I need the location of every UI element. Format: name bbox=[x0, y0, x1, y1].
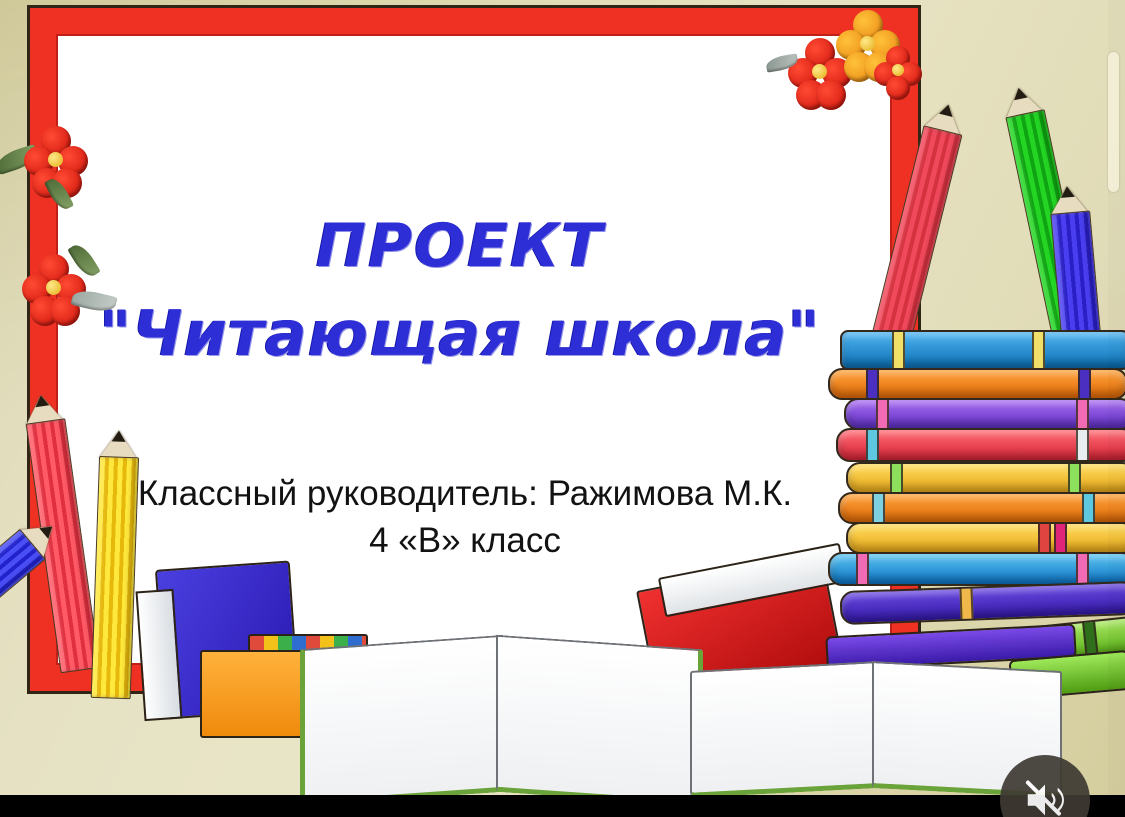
open-book-right-page bbox=[496, 635, 703, 795]
book-stack-item bbox=[844, 398, 1125, 430]
book-band bbox=[866, 370, 879, 398]
flower-center bbox=[812, 64, 827, 79]
scrollbar-thumb[interactable] bbox=[1108, 52, 1119, 192]
book-stack-item bbox=[840, 330, 1125, 370]
flower-left-upper bbox=[26, 130, 86, 190]
slide-credits-block: Классный руководитель: Ражимова М.К. 4 «… bbox=[70, 468, 860, 571]
video-player-stage: ПРОЕКТ "Читающая школа" Классный руковод… bbox=[0, 0, 1125, 817]
flower-left-lower bbox=[24, 258, 84, 318]
speaker-muted-icon bbox=[1022, 777, 1068, 817]
book-band bbox=[1076, 430, 1089, 460]
page-subtitle: "Читающая школа" bbox=[60, 300, 860, 368]
open-book-right bbox=[690, 660, 1060, 795]
book-band bbox=[1078, 370, 1091, 398]
pencil-graphite-tip bbox=[1060, 186, 1075, 198]
flower-center bbox=[48, 152, 63, 167]
flower-center bbox=[860, 36, 875, 51]
credit-teacher: Классный руководитель: Ражимова М.К. bbox=[70, 470, 860, 517]
book-band bbox=[1068, 464, 1081, 492]
book-band bbox=[872, 494, 885, 522]
book-band bbox=[1054, 524, 1067, 552]
open-book-left-page bbox=[300, 635, 503, 795]
book-band bbox=[1038, 524, 1051, 552]
book-band bbox=[1076, 400, 1089, 428]
flower-center bbox=[892, 64, 904, 76]
book-stack-item bbox=[846, 522, 1125, 554]
book-band bbox=[876, 400, 889, 428]
book-stack-item bbox=[828, 552, 1125, 586]
book-band bbox=[892, 332, 905, 368]
flower-center bbox=[46, 280, 61, 295]
credit-class: 4 «В» класс bbox=[70, 517, 860, 564]
book-stack-item bbox=[828, 368, 1125, 400]
book-band bbox=[856, 554, 869, 584]
book-band bbox=[1082, 494, 1095, 522]
open-book-center bbox=[300, 632, 700, 795]
pencil-barrel bbox=[91, 456, 139, 699]
book-band bbox=[1032, 332, 1045, 368]
flower-top-right-small-red bbox=[876, 48, 922, 94]
flower-petal bbox=[816, 80, 846, 110]
book-band bbox=[890, 464, 903, 492]
book-stack-item bbox=[846, 462, 1125, 494]
scrollbar-track[interactable] bbox=[1108, 0, 1125, 795]
letterbox-bar-bottom bbox=[0, 795, 1125, 817]
presentation-slide: ПРОЕКТ "Читающая школа" Классный руковод… bbox=[0, 0, 1125, 795]
slide-title-block: ПРОЕКТ "Читающая школа" bbox=[60, 215, 860, 368]
pencil-graphite-tip bbox=[34, 394, 49, 407]
flower-petal bbox=[886, 76, 910, 100]
pencil-graphite-tip bbox=[112, 430, 126, 441]
open-book-left-page bbox=[690, 661, 876, 795]
book-stack-item bbox=[838, 492, 1125, 524]
page-title: ПРОЕКТ bbox=[60, 215, 860, 278]
book-stack-item bbox=[836, 428, 1125, 462]
book-band bbox=[866, 430, 879, 460]
book-band bbox=[1076, 554, 1089, 584]
book-band bbox=[959, 589, 973, 619]
